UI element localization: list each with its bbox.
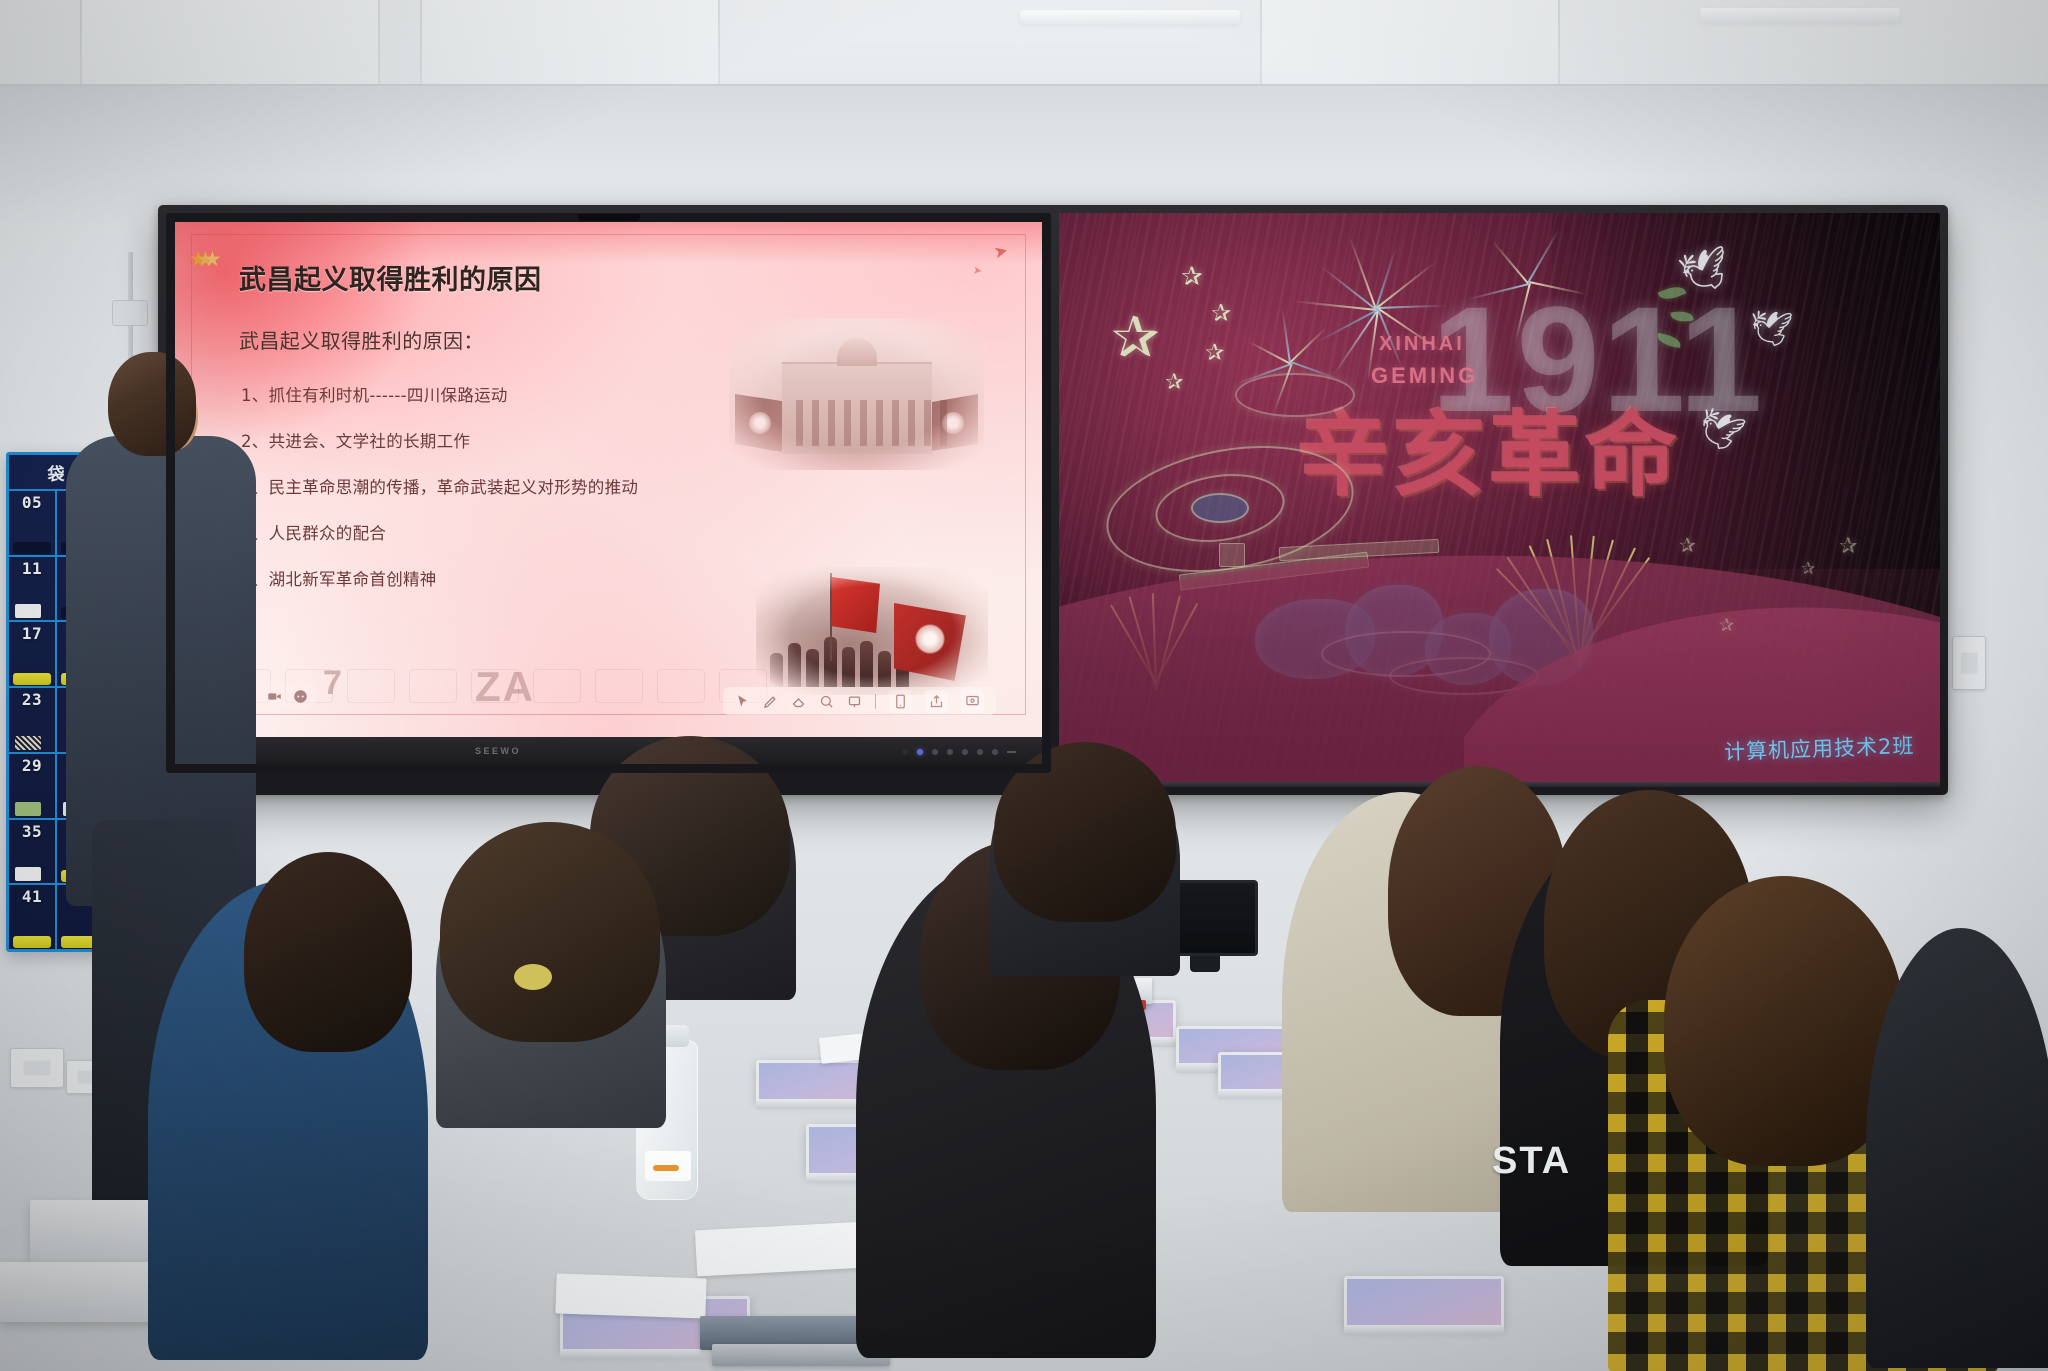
student-hair: [994, 742, 1176, 922]
pocket-item: [15, 604, 41, 618]
panel-brand-label: SEEWO: [475, 746, 521, 756]
historic-building: [782, 362, 932, 454]
star-icon: ✰: [1205, 339, 1224, 366]
power-button[interactable]: [902, 749, 908, 755]
teacher-head: [108, 352, 196, 456]
star-icon: ✰: [1719, 615, 1734, 636]
cursor-icon[interactable]: [735, 694, 750, 709]
flag-sun-emblem: [749, 412, 771, 434]
pocket-cell[interactable]: 41: [9, 885, 57, 949]
slide-lead-text: 武昌起义取得胜利的原因：: [239, 325, 484, 354]
chalkboard-artwork: ✰ ✰ ✰ ✰ ✰ ✰ ✰: [1059, 213, 1940, 787]
pen-icon[interactable]: [763, 694, 778, 709]
magnifier-icon[interactable]: [819, 694, 834, 709]
volume-up-button[interactable]: [962, 749, 968, 755]
pocket-item: [15, 736, 41, 750]
settings-button[interactable]: [992, 749, 998, 755]
revolution-emblem: [894, 603, 966, 681]
slide-title: 武昌起义取得胜利的原因: [239, 258, 542, 297]
toolbar-separator: [875, 694, 876, 709]
ceiling-panel-3: [1260, 0, 1560, 86]
eraser-icon[interactable]: [791, 694, 806, 709]
slide-bullet-list: 1、抓住有利时机------四川保路运动 2、共进会、文学社的长期工作 3、民主…: [241, 382, 761, 612]
wall-junction-box: [112, 300, 148, 326]
pocket-number: 17: [22, 624, 42, 643]
bird-icon: ➤: [972, 263, 983, 277]
pocket-number: 35: [22, 822, 42, 841]
slide-bullet: 2、共进会、文学社的长期工作: [241, 428, 761, 452]
hair-tie: [514, 964, 552, 990]
wall-socket-left-a: [10, 1048, 64, 1088]
slide-page-number: 7: [323, 664, 342, 703]
pocket-cell[interactable]: 35: [9, 820, 57, 884]
dragon-swirl-core: [1191, 493, 1249, 523]
star-icon: ✰: [1839, 533, 1857, 559]
desk: [1344, 1276, 1504, 1328]
spotlight-icon[interactable]: [847, 694, 862, 709]
home-button[interactable]: [917, 749, 923, 755]
student-hair: [244, 852, 412, 1052]
slide-watermark: ZA: [475, 663, 535, 711]
menu-button[interactable]: [932, 749, 938, 755]
pocket-cell[interactable]: 29: [9, 754, 57, 818]
classroom-scene: 袋 05 06 11 12 17 18 23 24 29 30: [0, 0, 2048, 1371]
tablet-icon[interactable]: [889, 690, 912, 713]
ceiling-light-2: [1700, 8, 1900, 22]
slide-bullet: 3、民主革命思潮的传播，革命武装起义对形势的推动: [241, 474, 761, 498]
volume-down-button[interactable]: [947, 749, 953, 755]
red-banner: [832, 577, 880, 633]
bottle-label: [645, 1151, 691, 1181]
pocket-cell[interactable]: 11: [9, 557, 57, 621]
record-icon[interactable]: [267, 689, 282, 704]
pocket-number: 41: [22, 887, 42, 906]
slide-image-revolutionary-army: [756, 567, 988, 695]
slide-bullet: 4、人民群众的配合: [241, 520, 761, 544]
student-hair: [440, 822, 660, 1042]
pocket-cell[interactable]: 05: [9, 491, 57, 555]
desk-top: [1344, 1276, 1504, 1328]
pocket-number: 29: [22, 756, 42, 775]
soldier-silhouettes: [770, 637, 909, 687]
pocket-flap: [13, 542, 51, 554]
monitor-stand: [1190, 956, 1220, 972]
student: [1866, 928, 2048, 1368]
wall-socket-right-a: [1952, 636, 1986, 690]
pocket-item: [15, 802, 41, 816]
pocket-cell[interactable]: 23: [9, 688, 57, 752]
ceiling-light-1: [1020, 10, 1240, 24]
paper-stack: [555, 1273, 706, 1318]
star-icon: ✰: [1111, 303, 1160, 371]
chalk-pinyin-line1: XINHAI: [1379, 333, 1465, 356]
building-columns: [796, 400, 947, 446]
star-icon: ✰: [1181, 261, 1203, 292]
panel-camera: [578, 214, 640, 221]
hoodie-text: STA: [1492, 1140, 1571, 1183]
star-icon: ✰: [1165, 369, 1183, 395]
presentation-slide[interactable]: 武昌起义取得胜利的原因 武昌起义取得胜利的原因： 1、抓住有利时机------四…: [175, 222, 1042, 737]
pocket-number: 23: [22, 690, 42, 709]
cloud-swirl: [1235, 373, 1355, 417]
ceiling-panel-2: [420, 0, 720, 86]
wall-board-unit: 武昌起义取得胜利的原因 武昌起义取得胜利的原因： 1、抓住有利时机------四…: [158, 205, 1948, 795]
slide-bullet: 1、抓住有利时机------四川保路运动: [241, 382, 761, 406]
chalk-title: 辛亥革命: [1297, 381, 1681, 514]
more-icon[interactable]: [293, 689, 308, 704]
pocket-number: 05: [22, 493, 42, 512]
ir-sensor: [1007, 751, 1016, 753]
source-button[interactable]: [977, 749, 983, 755]
pocket-cell[interactable]: 17: [9, 622, 57, 686]
star-icon: ✰: [1679, 533, 1696, 558]
pocket-item: [15, 867, 41, 881]
present-icon[interactable]: [961, 690, 984, 713]
panel-button-group[interactable]: [902, 749, 1016, 755]
share-icon[interactable]: [925, 690, 948, 713]
star-icon: ✰: [1801, 559, 1815, 579]
panel-control-bar[interactable]: SEEWO: [175, 737, 1042, 773]
dove-icon: 🕊: [1747, 307, 1794, 351]
pocket-flap: [13, 673, 51, 685]
slide-image-uprising-hq: [729, 318, 984, 470]
pocket-flap: [13, 936, 51, 948]
banner-pole: [830, 573, 832, 661]
interactive-flat-panel[interactable]: 武昌起义取得胜利的原因 武昌起义取得胜利的原因： 1、抓住有利时机------四…: [166, 213, 1051, 773]
star-icon: ✰: [1211, 299, 1231, 328]
annotation-toolbar-right[interactable]: [723, 687, 996, 715]
paper-stack: [695, 1222, 867, 1277]
desk-edge: [1344, 1326, 1504, 1335]
great-wall-tower: [1219, 543, 1245, 567]
ceiling-panel-1: [80, 0, 380, 86]
slide-bullet: 5、湖北新军革命首创精神: [241, 566, 761, 590]
pocket-number: 11: [22, 559, 42, 578]
